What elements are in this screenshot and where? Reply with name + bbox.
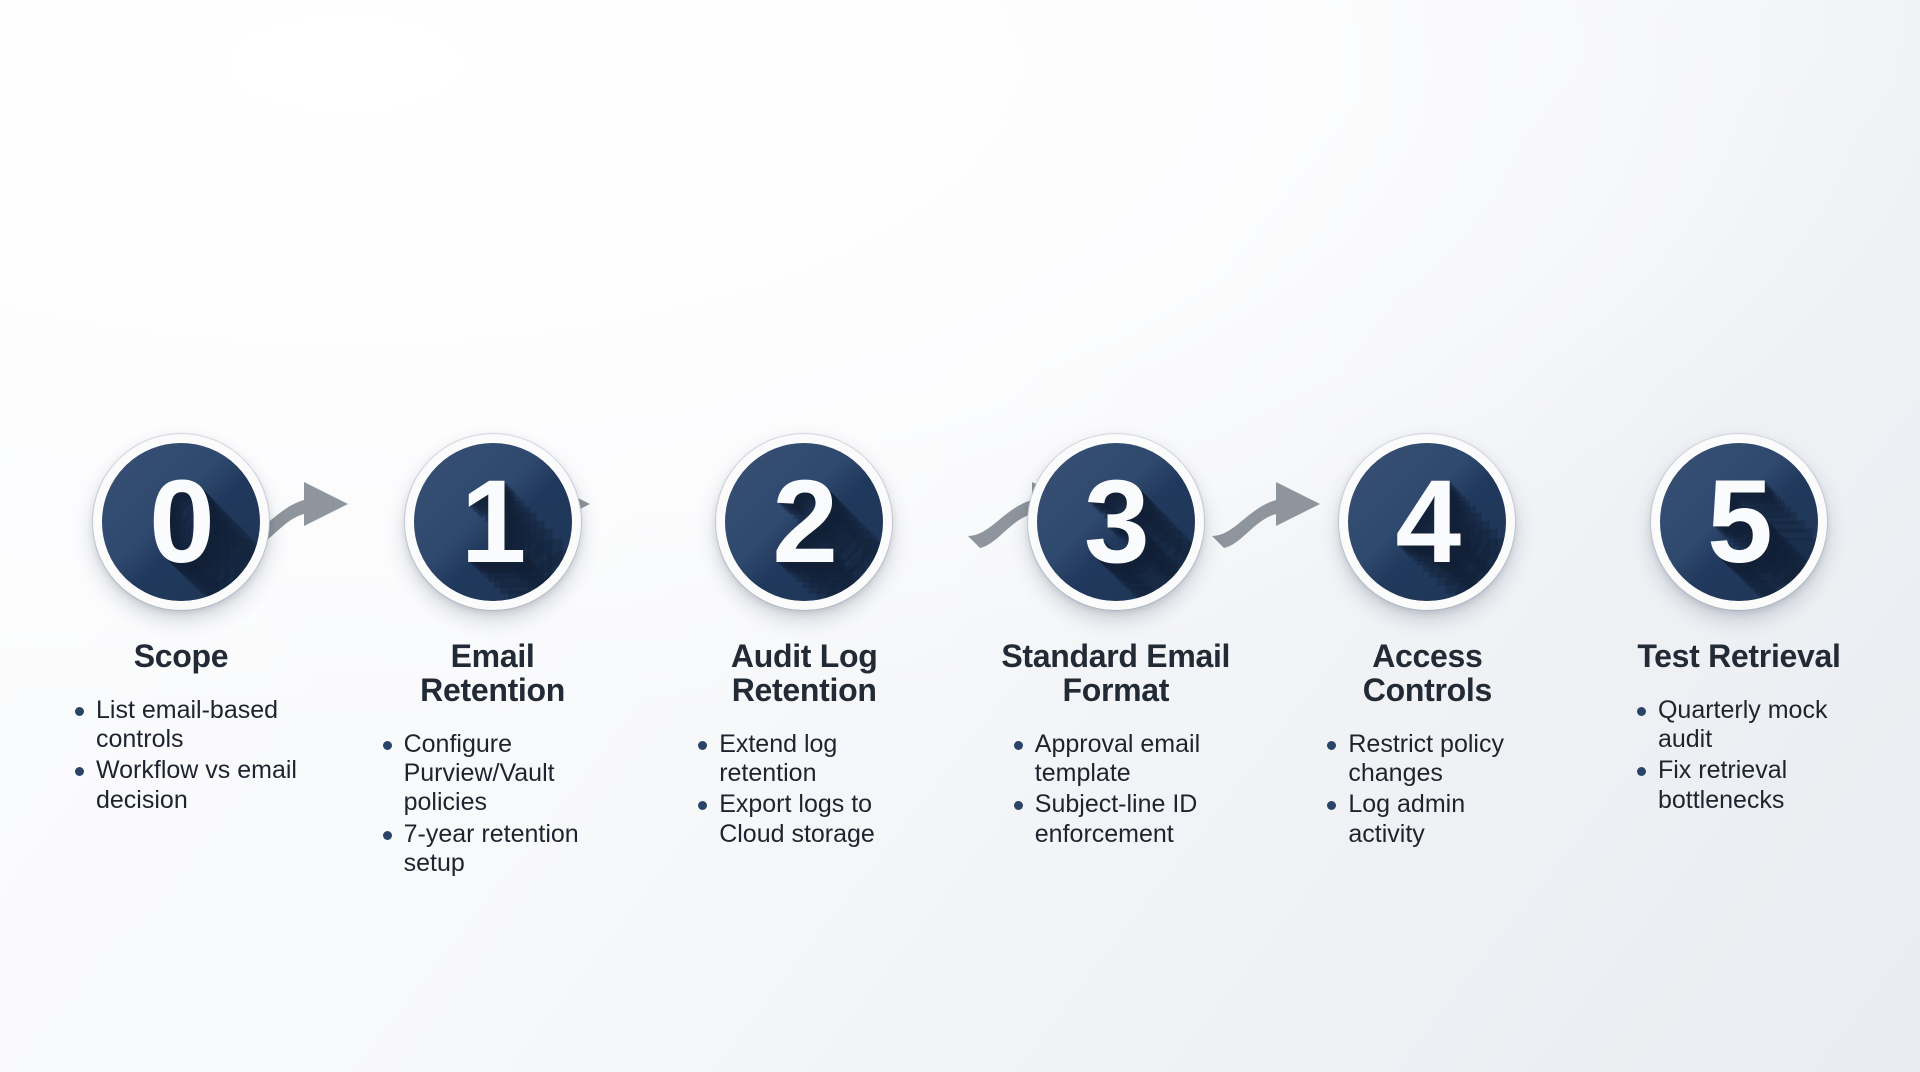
list-item: Configure Purview/Vault policies xyxy=(378,730,614,818)
step-circle-1: 1 xyxy=(405,434,581,610)
step-badge-2[interactable]: 2 xyxy=(712,430,896,614)
step-bullets-0: List email-based controls Workflow vs em… xyxy=(60,696,302,817)
list-item: Subject-line ID enforcement xyxy=(1009,790,1237,849)
step-title-3: Standard Email Format xyxy=(998,640,1234,708)
step-badge-1[interactable]: 1 xyxy=(401,430,585,614)
list-item: Export logs to Cloud storage xyxy=(693,790,925,849)
step-bullets-1: Configure Purview/Vault policies 7-year … xyxy=(372,730,614,880)
step-title-0: Scope xyxy=(134,640,229,674)
diagram-canvas: 0 Scope List email-based controls Workfl… xyxy=(0,0,1920,1072)
list-item: Restrict policy changes xyxy=(1322,730,1548,789)
process-step-3[interactable]: 3 Standard Email Format Approval email t… xyxy=(995,430,1237,851)
process-step-5[interactable]: 5 Test Retrieval Quarterly mock audit Fi… xyxy=(1618,430,1860,817)
step-badge-5[interactable]: 5 xyxy=(1647,430,1831,614)
step-bullets-4: Restrict policy changes Log admin activi… xyxy=(1306,730,1548,851)
list-item: Approval email template xyxy=(1009,730,1237,789)
list-item: Workflow vs email decision xyxy=(70,756,302,815)
list-item: Extend log retention xyxy=(693,730,925,789)
step-bullets-3: Approval email template Subject-line ID … xyxy=(995,730,1237,851)
step-circle-3: 3 xyxy=(1028,434,1204,610)
step-badge-4[interactable]: 4 xyxy=(1335,430,1519,614)
step-title-2: Audit Log Retention xyxy=(686,640,922,708)
process-step-0[interactable]: 0 Scope List email-based controls Workfl… xyxy=(60,430,302,817)
process-step-2[interactable]: 2 Audit Log Retention Extend log retenti… xyxy=(683,430,925,851)
step-number-0: 0 xyxy=(149,463,213,581)
step-bullets-5: Quarterly mock audit Fix retrieval bottl… xyxy=(1618,696,1860,817)
step-badge-3[interactable]: 3 xyxy=(1024,430,1208,614)
step-number-5: 5 xyxy=(1707,463,1771,581)
step-number-3: 3 xyxy=(1084,463,1148,581)
list-item: Log admin activity xyxy=(1322,790,1548,849)
step-circle-0: 0 xyxy=(93,434,269,610)
step-circle-2: 2 xyxy=(716,434,892,610)
list-item: List email-based controls xyxy=(70,696,302,755)
step-number-2: 2 xyxy=(772,463,836,581)
step-title-4: Access Controls xyxy=(1309,640,1545,708)
process-step-4[interactable]: 4 Access Controls Restrict policy change… xyxy=(1306,430,1548,851)
list-item: Quarterly mock audit xyxy=(1632,696,1860,755)
step-number-1: 1 xyxy=(461,463,525,581)
process-step-1[interactable]: 1 Email Retention Configure Purview/Vaul… xyxy=(372,430,614,880)
step-circle-5: 5 xyxy=(1651,434,1827,610)
step-badge-0[interactable]: 0 xyxy=(89,430,273,614)
step-bullets-2: Extend log retention Export logs to Clou… xyxy=(683,730,925,851)
process-timeline: 0 Scope List email-based controls Workfl… xyxy=(60,430,1860,880)
step-circle-4: 4 xyxy=(1339,434,1515,610)
list-item: 7-year retention setup xyxy=(378,820,614,879)
step-title-1: Email Retention xyxy=(375,640,611,708)
list-item: Fix retrieval bottlenecks xyxy=(1632,756,1860,815)
step-title-5: Test Retrieval xyxy=(1637,640,1840,674)
step-number-4: 4 xyxy=(1396,463,1460,581)
